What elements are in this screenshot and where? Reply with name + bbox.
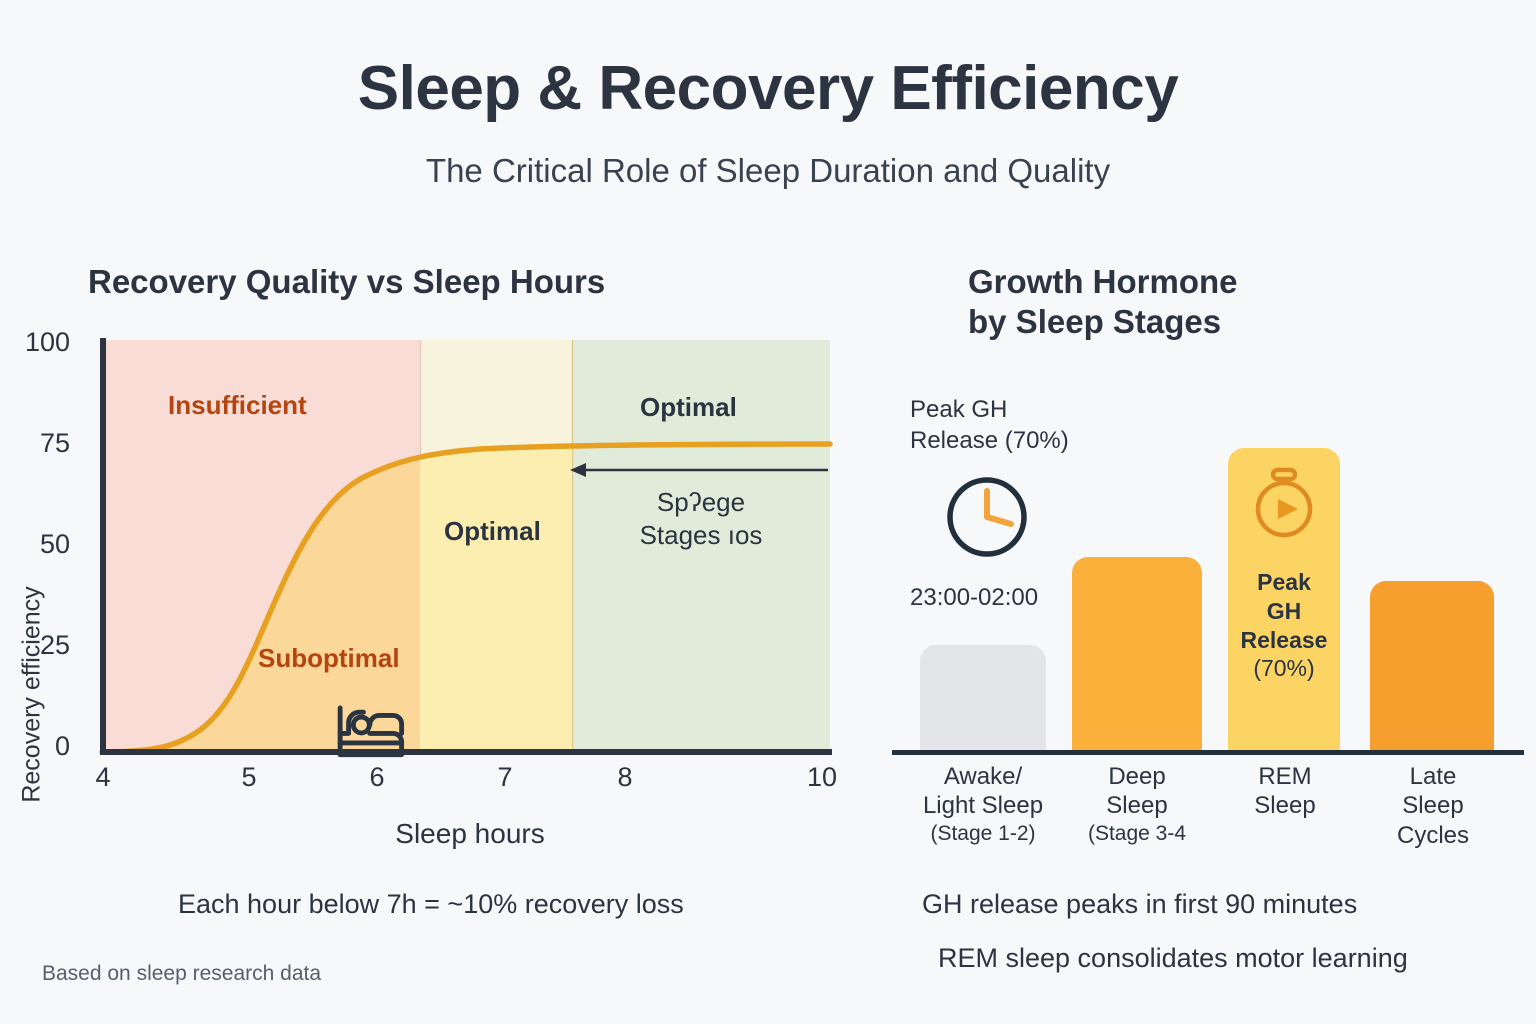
bar-caption-rem-line2: Sleep (1212, 791, 1358, 820)
bar-caption-awake-line2: Light Sleep (888, 791, 1078, 820)
bar-caption-awake-line3: (Stage 1-2) (888, 821, 1078, 847)
peak-gh-annotation-line2: Release (70%) (910, 425, 1069, 456)
page-title: Sleep & Recovery Efficiency (0, 56, 1536, 121)
bar-caption-late-line2: Sleep (1358, 791, 1508, 820)
bar-caption-awake-light-sleep: Awake/ Light Sleep (Stage 1-2) (888, 762, 1078, 846)
bar-caption-late-line1: Late (1358, 762, 1508, 791)
bar-rem-inner-line2: GH (1228, 597, 1340, 626)
recovery-curve-svg (0, 300, 880, 880)
growth-hormone-bar-chart: Peak GH Release (70%) 23:00-02:00 Peak G… (880, 300, 1536, 880)
clock-icon (942, 472, 1032, 562)
left-footnote: Each hour below 7h = ~10% recovery loss (178, 889, 684, 920)
optimal-zone-note-line1: Spʔege (566, 486, 836, 519)
band-label-insufficient: Insufficient (168, 390, 307, 421)
peak-gh-annotation: Peak GH Release (70%) (910, 394, 1069, 456)
x-tick-10: 10 (792, 762, 852, 793)
bar-caption-deep-line2: Sleep (1052, 791, 1222, 820)
x-axis-label: Sleep hours (100, 818, 840, 850)
right-footnote-2: REM sleep consolidates motor learning (938, 943, 1408, 974)
right-footnote-1: GH release peaks in first 90 minutes (922, 889, 1357, 920)
infographic-canvas: Sleep & Recovery Efficiency The Critical… (0, 0, 1536, 1024)
optimal-zone-note: Spʔege Stages ıos (566, 486, 836, 553)
bar-caption-rem-line1: REM (1212, 762, 1358, 791)
right-chart-title-line1: Growth Hormone (968, 262, 1238, 302)
page-subtitle: The Critical Role of Sleep Duration and … (0, 152, 1536, 190)
recovery-curve-chart: Recovery efficiency 100 75 50 25 0 (0, 300, 880, 880)
bar-rem-inner-line4: (70%) (1228, 654, 1340, 683)
band-label-suboptimal: Suboptimal (258, 643, 400, 674)
bar-caption-awake-line1: Awake/ (888, 762, 1078, 791)
peak-gh-annotation-line1: Peak GH (910, 394, 1069, 425)
band-label-optimal-mid: Optimal (444, 516, 541, 547)
bar-late-sleep-cycles[interactable] (1370, 581, 1494, 750)
bar-deep-sleep[interactable] (1072, 557, 1202, 750)
bar-caption-late-sleep-cycles: Late Sleep Cycles (1358, 762, 1508, 850)
bar-caption-deep-sleep: Deep Sleep (Stage 3-4 (1052, 762, 1222, 846)
bar-caption-deep-line1: Deep (1052, 762, 1222, 791)
x-tick-7: 7 (475, 762, 535, 793)
x-tick-4: 4 (73, 762, 133, 793)
bar-rem-inner-line1: Peak (1228, 568, 1340, 597)
optimal-zone-note-line2: Stages ıos (566, 519, 836, 552)
bar-caption-deep-line3: (Stage 3-4 (1052, 821, 1222, 847)
bar-awake-light-sleep[interactable] (920, 645, 1046, 750)
bar-caption-rem-sleep: REM Sleep (1212, 762, 1358, 821)
bar-chart-baseline (892, 750, 1524, 755)
x-tick-8: 8 (595, 762, 655, 793)
gh-time-window: 23:00-02:00 (910, 582, 1038, 613)
source-credit: Based on sleep research data (42, 962, 321, 986)
band-label-optimal-top: Optimal (640, 392, 737, 423)
stopwatch-icon (1245, 466, 1323, 544)
left-chart-title: Recovery Quality vs Sleep Hours (88, 262, 605, 302)
bar-rem-inner-label: Peak GH Release (70%) (1228, 568, 1340, 683)
bar-caption-late-line3: Cycles (1358, 821, 1508, 850)
bar-rem-sleep[interactable]: Peak GH Release (70%) (1228, 448, 1340, 750)
x-tick-6: 6 (347, 762, 407, 793)
bar-rem-inner-line3: Release (1228, 626, 1340, 655)
x-tick-5: 5 (219, 762, 279, 793)
